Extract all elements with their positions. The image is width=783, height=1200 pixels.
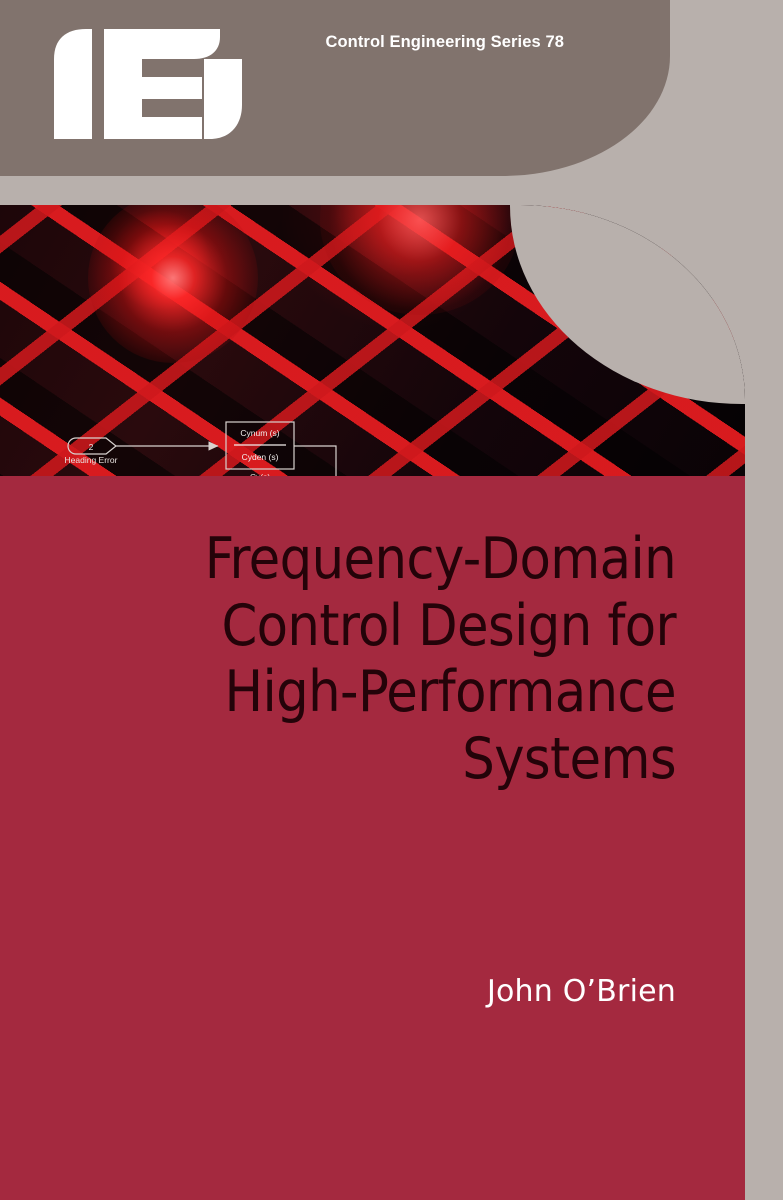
- author-name: John O’Brien: [46, 974, 676, 1009]
- svg-text:Cyden (s): Cyden (s): [242, 452, 279, 462]
- heading-error-port: 2 Heading Error: [65, 438, 118, 465]
- cover-body: Frequency-Domain Control Design for High…: [0, 476, 745, 1200]
- header-band: Control Engineering Series 78: [0, 0, 670, 176]
- svg-text:Cynum (s): Cynum (s): [240, 428, 279, 438]
- page-title: Frequency-Domain Control Design for High…: [46, 526, 676, 793]
- series-label: Control Engineering Series 78: [0, 33, 670, 52]
- book-cover: Control Engineering Series 78: [0, 0, 783, 1200]
- cy-transfer-block: Cynum (s) Cyden (s) Cy(s): [226, 422, 294, 476]
- right-margin: [745, 0, 783, 1200]
- band-gap-divider: [0, 176, 745, 205]
- svg-text:Heading Error: Heading Error: [65, 455, 118, 465]
- cover-artwork: 2 Heading Error 1 Roll Angle Cynum (s) C…: [0, 205, 745, 476]
- svg-text:2: 2: [89, 442, 94, 452]
